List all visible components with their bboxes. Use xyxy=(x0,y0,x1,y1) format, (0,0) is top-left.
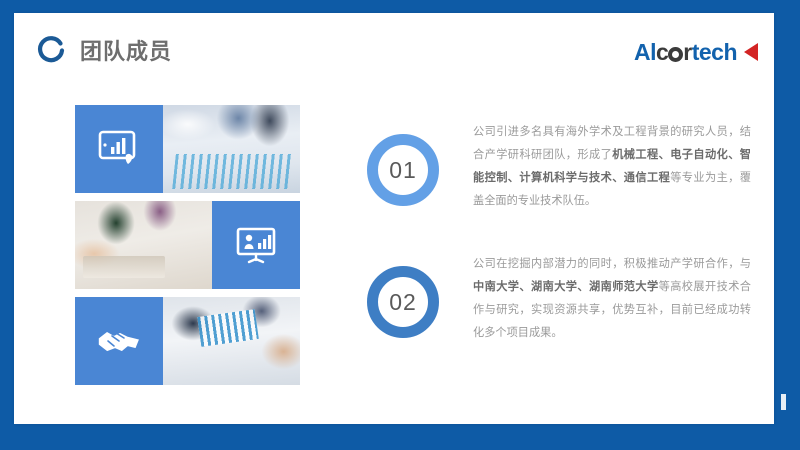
paragraph-run-bold: 中南大学、湖南大学、湖南师范大学 xyxy=(473,281,659,293)
content-items: 01 公司引进多名具有海外学术及工程背景的研究人员，结合产学研科研团队，形成了机… xyxy=(14,13,774,424)
step-number-label: 02 xyxy=(389,289,417,316)
step-number-badge-02: 02 xyxy=(367,266,439,338)
content-paragraph-01: 公司引进多名具有海外学术及工程背景的研究人员，结合产学研科研团队，形成了机械工程… xyxy=(473,121,751,213)
step-number-badge-01: 01 xyxy=(367,134,439,206)
paragraph-run: 公司在挖掘内部潜力的同时，积极推动产学研合作，与 xyxy=(473,258,751,270)
slide-page: 团队成员 Al c r tech xyxy=(14,13,774,424)
frame-notch xyxy=(781,394,786,410)
step-number-label: 01 xyxy=(389,157,417,184)
content-paragraph-02: 公司在挖掘内部潜力的同时，积极推动产学研合作，与中南大学、湖南大学、湖南师范大学… xyxy=(473,253,751,345)
slide-root: 团队成员 Al c r tech xyxy=(0,0,800,450)
